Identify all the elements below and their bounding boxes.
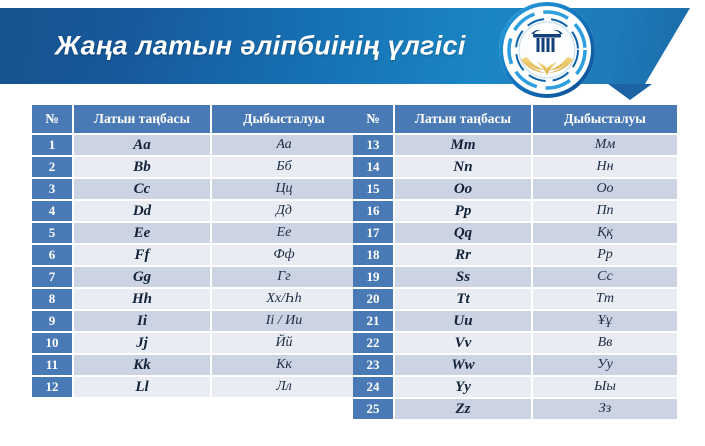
emblem-icon [497, 0, 597, 100]
cell-cyrillic-sound: Аа [212, 135, 356, 155]
cell-cyrillic-sound: Бб [212, 157, 356, 177]
cell-latin-letter: Ee [74, 223, 210, 243]
cell-number: 1 [32, 135, 72, 155]
cell-cyrillic-sound: Кк [212, 355, 356, 375]
table-row: 15OoОо [353, 179, 677, 199]
cell-cyrillic-sound: Уу [533, 355, 677, 375]
table-row: 6FfФф [32, 245, 356, 265]
cell-number: 8 [32, 289, 72, 309]
cell-latin-letter: Mm [395, 135, 531, 155]
cell-latin-letter: Kk [74, 355, 210, 375]
table-row: 9IiІі / Ии [32, 311, 356, 331]
cell-latin-letter: Dd [74, 201, 210, 221]
cell-number: 3 [32, 179, 72, 199]
cell-number: 10 [32, 333, 72, 353]
banner-fold-corner [608, 84, 652, 100]
cell-latin-letter: Pp [395, 201, 531, 221]
cell-number: 19 [353, 267, 393, 287]
cell-latin-letter: Ll [74, 377, 210, 397]
cell-latin-letter: Rr [395, 245, 531, 265]
table-row: 14NnНн [353, 157, 677, 177]
cell-number: 20 [353, 289, 393, 309]
column-header-number: № [353, 105, 393, 133]
cell-latin-letter: Ii [74, 311, 210, 331]
table-row: 1AaАа [32, 135, 356, 155]
table-body-right: 13MmМм14NnНн15OoОо16PpПп17QqҚқ18RrРр19Ss… [353, 135, 677, 419]
cell-number: 23 [353, 355, 393, 375]
cell-cyrillic-sound: Нн [533, 157, 677, 177]
table-header-left: № Латын таңбасы Дыбысталуы [32, 105, 356, 133]
cell-latin-letter: Ww [395, 355, 531, 375]
column-header-sound: Дыбысталуы [533, 105, 677, 133]
cell-cyrillic-sound: Зз [533, 399, 677, 419]
cell-number: 2 [32, 157, 72, 177]
cell-latin-letter: Nn [395, 157, 531, 177]
table-row: 21UuҰұ [353, 311, 677, 331]
column-header-latin: Латын таңбасы [395, 105, 531, 133]
cell-cyrillic-sound: Іі / Ии [212, 311, 356, 331]
cell-cyrillic-sound: Мм [533, 135, 677, 155]
cell-number: 9 [32, 311, 72, 331]
table-row: 4DdДд [32, 201, 356, 221]
table-row: 22VvВв [353, 333, 677, 353]
cell-cyrillic-sound: Ққ [533, 223, 677, 243]
cell-cyrillic-sound: Сс [533, 267, 677, 287]
cell-number: 7 [32, 267, 72, 287]
table-row: 11KkКк [32, 355, 356, 375]
table-row: 23WwУу [353, 355, 677, 375]
cell-number: 17 [353, 223, 393, 243]
cell-latin-letter: Oo [395, 179, 531, 199]
table-row: 25ZzЗз [353, 399, 677, 419]
cell-number: 22 [353, 333, 393, 353]
alphabet-table-right: № Латын таңбасы Дыбысталуы 13MmМм14NnНн1… [351, 103, 679, 421]
column-header-sound: Дыбысталуы [212, 105, 356, 133]
cell-cyrillic-sound: Йй [212, 333, 356, 353]
cell-cyrillic-sound: Гг [212, 267, 356, 287]
table-row: 20TtТт [353, 289, 677, 309]
header-banner: Жаңа латын әліпбиінің үлгісі [0, 8, 705, 84]
cell-latin-letter: Bb [74, 157, 210, 177]
cell-cyrillic-sound: Цц [212, 179, 356, 199]
cell-latin-letter: Zz [395, 399, 531, 419]
cell-latin-letter: Cc [74, 179, 210, 199]
table-row: 19SsСс [353, 267, 677, 287]
cell-cyrillic-sound: Фф [212, 245, 356, 265]
cell-cyrillic-sound: Рр [533, 245, 677, 265]
cell-latin-letter: Yy [395, 377, 531, 397]
cell-cyrillic-sound: Оо [533, 179, 677, 199]
cell-cyrillic-sound: Дд [212, 201, 356, 221]
table-row: 2BbБб [32, 157, 356, 177]
cell-number: 16 [353, 201, 393, 221]
cell-latin-letter: Gg [74, 267, 210, 287]
table-row: 5EeЕе [32, 223, 356, 243]
table-body-left: 1AaАа2BbБб3CcЦц4DdДд5EeЕе6FfФф7GgГг8HhХх… [32, 135, 356, 397]
cell-cyrillic-sound: Ұұ [533, 311, 677, 331]
cell-number: 6 [32, 245, 72, 265]
table-header-right: № Латын таңбасы Дыбысталуы [353, 105, 677, 133]
cell-latin-letter: Uu [395, 311, 531, 331]
table-row: 12LlЛл [32, 377, 356, 397]
table-row: 3CcЦц [32, 179, 356, 199]
cell-number: 4 [32, 201, 72, 221]
table-row: 16PpПп [353, 201, 677, 221]
cell-latin-letter: Jj [74, 333, 210, 353]
cell-cyrillic-sound: Хх/Һһ [212, 289, 356, 309]
cell-cyrillic-sound: Вв [533, 333, 677, 353]
cell-latin-letter: Ff [74, 245, 210, 265]
cell-number: 12 [32, 377, 72, 397]
cell-number: 11 [32, 355, 72, 375]
column-header-latin: Латын таңбасы [74, 105, 210, 133]
cell-number: 18 [353, 245, 393, 265]
cell-number: 15 [353, 179, 393, 199]
cell-cyrillic-sound: Лл [212, 377, 356, 397]
alphabet-table-left: № Латын таңбасы Дыбысталуы 1AaАа2BbБб3Cc… [30, 103, 358, 399]
cell-latin-letter: Qq [395, 223, 531, 243]
cell-number: 14 [353, 157, 393, 177]
table-row: 13MmМм [353, 135, 677, 155]
cell-latin-letter: Hh [74, 289, 210, 309]
cell-latin-letter: Vv [395, 333, 531, 353]
university-emblem-logo [497, 0, 597, 100]
table-row: 24YyЫы [353, 377, 677, 397]
table-row: 7GgГг [32, 267, 356, 287]
cell-number: 25 [353, 399, 393, 419]
table-header-row: № Латын таңбасы Дыбысталуы [353, 105, 677, 133]
cell-number: 13 [353, 135, 393, 155]
cell-latin-letter: Tt [395, 289, 531, 309]
cell-cyrillic-sound: Тт [533, 289, 677, 309]
cell-number: 21 [353, 311, 393, 331]
column-header-number: № [32, 105, 72, 133]
cell-latin-letter: Ss [395, 267, 531, 287]
table-row: 17QqҚқ [353, 223, 677, 243]
cell-number: 24 [353, 377, 393, 397]
cell-cyrillic-sound: Ыы [533, 377, 677, 397]
cell-number: 5 [32, 223, 72, 243]
table-row: 8HhХх/Һһ [32, 289, 356, 309]
cell-cyrillic-sound: Пп [533, 201, 677, 221]
table-row: 18RrРр [353, 245, 677, 265]
page-title: Жаңа латын әліпбиінің үлгісі [55, 31, 466, 62]
cell-cyrillic-sound: Ее [212, 223, 356, 243]
table-row: 10JjЙй [32, 333, 356, 353]
table-header-row: № Латын таңбасы Дыбысталуы [32, 105, 356, 133]
cell-latin-letter: Aa [74, 135, 210, 155]
